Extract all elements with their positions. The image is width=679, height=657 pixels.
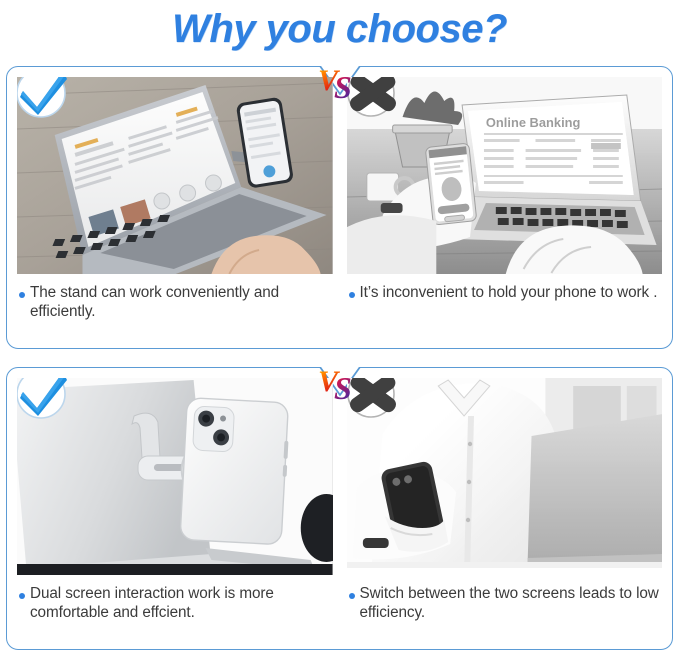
pro-cell-1: The stand can work conveniently and effi… — [17, 77, 333, 342]
photo-magnetic-phone-mount-closeup — [17, 378, 333, 575]
caption-text: The stand can work conveniently and effi… — [30, 283, 333, 321]
con-cell-1: Online Banking — [347, 77, 663, 342]
caption-text: Dual screen interaction work is more com… — [30, 584, 333, 622]
bullet-icon — [349, 593, 355, 599]
photo-person-holding-phone-beside-laptop — [347, 378, 663, 575]
photo-holding-phone-online-banking: Online Banking — [347, 77, 663, 274]
pro-cell-2: Dual screen interaction work is more com… — [17, 378, 333, 643]
caption-text: Switch between the two screens leads to … — [360, 584, 663, 622]
comparison-panel-1: The stand can work conveniently and effi… — [6, 66, 673, 349]
page-header: Why you choose? — [0, 0, 679, 58]
page-title: Why you choose? — [172, 7, 507, 52]
pro-caption-1: The stand can work conveniently and effi… — [17, 274, 333, 321]
bullet-icon — [349, 292, 355, 298]
pro-caption-2: Dual screen interaction work is more com… — [17, 575, 333, 622]
bullet-icon — [19, 593, 25, 599]
con-cell-2: Switch between the two screens leads to … — [347, 378, 663, 643]
photo-laptop-with-phone-stand — [17, 77, 333, 274]
bullet-icon — [19, 292, 25, 298]
svg-text:Online Banking: Online Banking — [485, 115, 580, 130]
con-caption-2: Switch between the two screens leads to … — [347, 575, 663, 622]
con-caption-1: It’s inconvenient to hold your phone to … — [347, 274, 663, 302]
caption-text: It’s inconvenient to hold your phone to … — [360, 283, 658, 302]
comparison-panel-2: Dual screen interaction work is more com… — [6, 367, 673, 650]
